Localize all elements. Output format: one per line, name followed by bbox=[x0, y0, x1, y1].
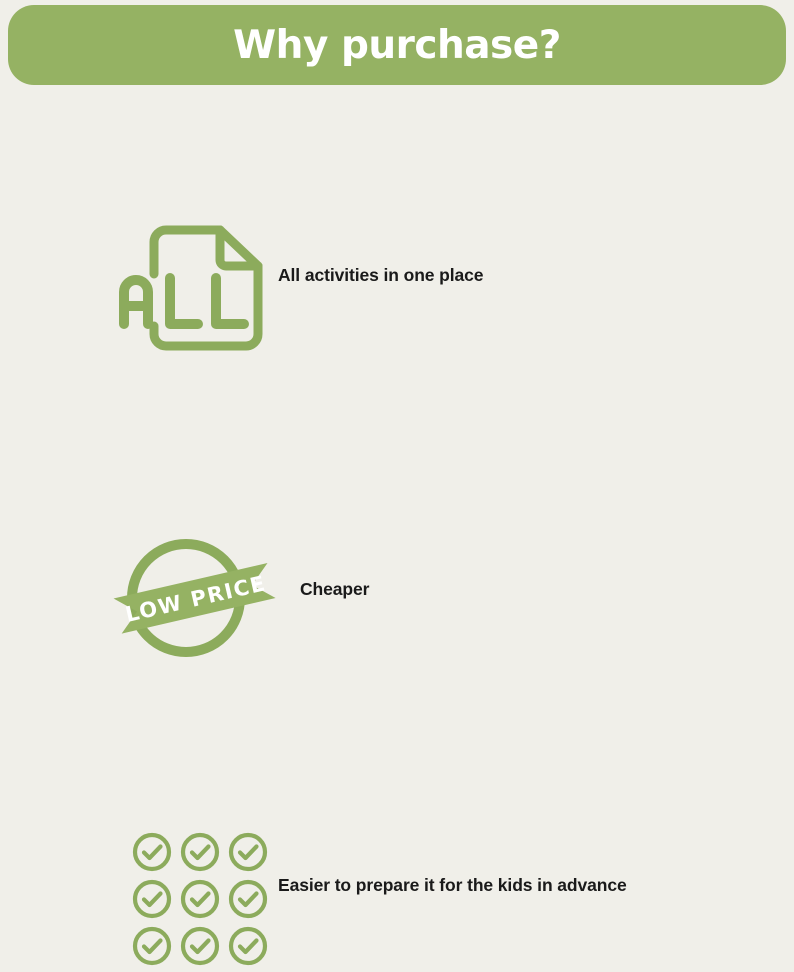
page-title: Why purchase? bbox=[233, 26, 561, 65]
check-circle-row-3 bbox=[135, 929, 265, 963]
check-grid-icon bbox=[126, 826, 276, 972]
header-banner: Why purchase? bbox=[8, 5, 786, 85]
feature-row-all-activities: All activities in one place bbox=[0, 104, 794, 256]
feature-label-easier-prepare: Easier to prepare it for the kids in adv… bbox=[278, 877, 627, 895]
slide-canvas: Why purchase? bbox=[0, 0, 794, 596]
check-circle-row-1 bbox=[135, 835, 265, 869]
feature-row-cheaper: LOW PRICE Cheaper bbox=[0, 262, 794, 410]
check-circle-row-2 bbox=[135, 882, 265, 916]
feature-row-easier-prepare: Easier to prepare it for the kids in adv… bbox=[0, 410, 794, 570]
